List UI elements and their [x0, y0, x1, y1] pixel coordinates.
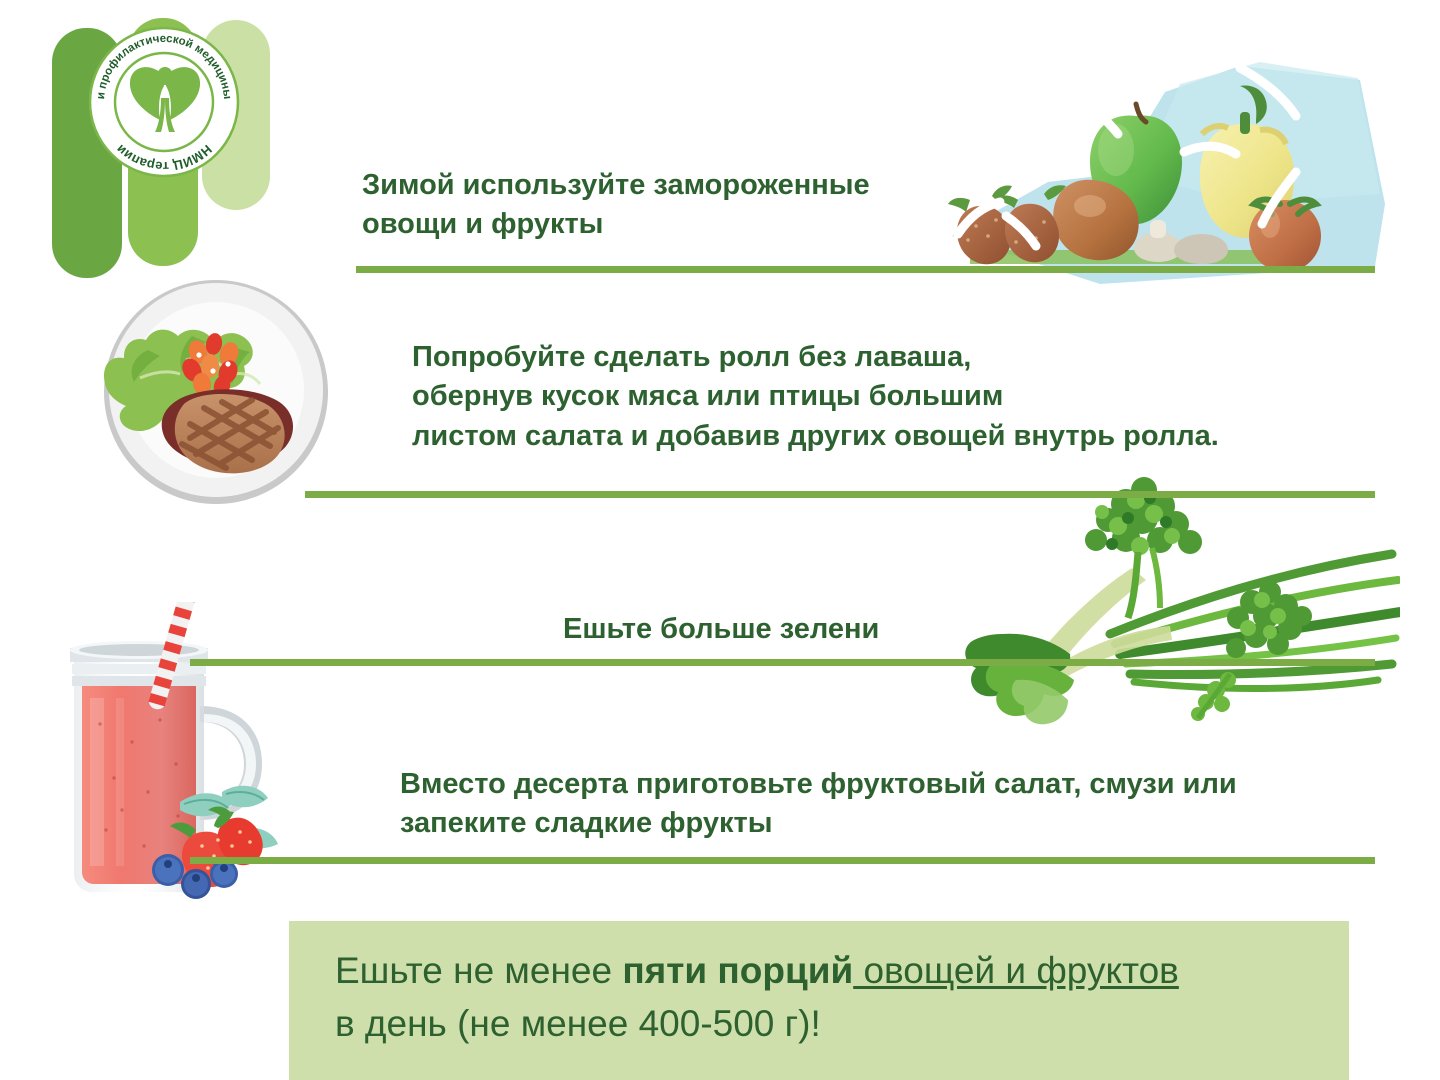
banner-line2: в день (не менее 400-500 г)! — [335, 1003, 821, 1044]
summary-banner: Ешьте не менее пяти порций овощей и фрук… — [289, 921, 1349, 1080]
divider-rule-4 — [190, 857, 1375, 864]
summary-banner-text: Ешьте не менее пяти порций овощей и фрук… — [335, 945, 1335, 1050]
banner-line1-bold: пяти порций — [622, 950, 853, 991]
tip-text-roll: Попробуйте сделать ролл без лаваша, обер… — [412, 338, 1219, 456]
tip-text-frozen: Зимой используйте замороженные овощи и ф… — [362, 166, 870, 245]
tip-text-greens: Ешьте больше зелени — [563, 610, 879, 649]
steak-salad-plate-illustration — [86, 266, 346, 506]
nmic-logo: и профилактической медицины НМИЦ терапии — [88, 26, 240, 178]
slide-canvas: и профилактической медицины НМИЦ терапии — [0, 0, 1440, 1080]
berry-smoothie-jar-illustration — [56, 602, 306, 900]
banner-line1-underlined: овощей и фруктов — [853, 950, 1179, 991]
divider-rule-2 — [305, 491, 1375, 498]
divider-rule-1 — [356, 266, 1375, 273]
divider-rule-3 — [190, 659, 1375, 666]
tip-text-dessert: Вместо десерта приготовьте фруктовый сал… — [400, 765, 1237, 844]
banner-line1-plain: Ешьте не менее — [335, 950, 622, 991]
